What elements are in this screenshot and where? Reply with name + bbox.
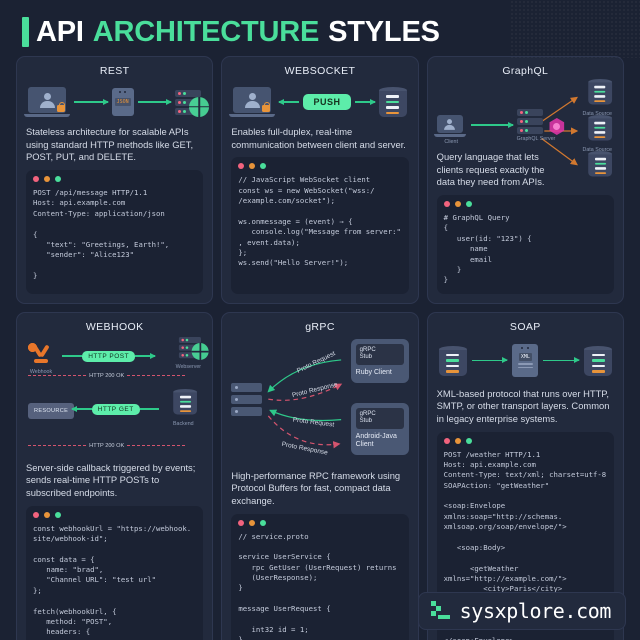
title-part-styles: STYLES xyxy=(328,16,440,49)
graphql-server: GraphQL Server xyxy=(517,109,556,142)
infographic-page: API ARCHITECTURE STYLES REST xyxy=(0,0,640,640)
grpc-client-2-label: Android-Java Client xyxy=(356,433,404,450)
database-icon xyxy=(379,87,407,117)
json-document-icon: JSON xyxy=(112,88,134,116)
card-soap-description: XML-based protocol that runs over HTTP, … xyxy=(437,388,614,426)
graphql-logo-icon xyxy=(548,118,565,135)
footer-brand[interactable]: sysxplore.com xyxy=(418,592,626,630)
arrow-client-to-doc xyxy=(74,101,108,103)
maximize-dot-icon xyxy=(55,176,61,182)
close-dot-icon xyxy=(444,438,450,444)
arrow-db-to-xml xyxy=(472,360,508,362)
webhook-icon xyxy=(28,343,54,367)
arrow-doc-to-server xyxy=(138,101,172,103)
title-part-api: API xyxy=(36,16,84,49)
minimize-dot-icon xyxy=(455,438,461,444)
json-doc-label: JSON xyxy=(115,98,131,106)
xml-document-icon: XML xyxy=(512,344,538,377)
card-grpc-code: // service.proto service UserService { r… xyxy=(238,532,401,640)
code-window-dots xyxy=(33,176,196,182)
globe-icon xyxy=(192,343,209,360)
terminal-prompt-icon xyxy=(429,601,451,621)
minimize-dot-icon xyxy=(249,163,255,169)
minimize-dot-icon xyxy=(44,176,50,182)
card-graphql-title: GraphQL xyxy=(437,65,614,77)
minimize-dot-icon xyxy=(44,512,50,518)
arrow-webhook-to-webserver-a xyxy=(62,355,82,357)
card-websocket: WEBSOCKET PUSH xyxy=(221,56,418,304)
card-websocket-code-block: // JavaScript WebSocket client const ws … xyxy=(231,157,408,293)
title-accent-bar xyxy=(22,17,29,47)
code-window-dots xyxy=(444,438,607,444)
minimize-dot-icon xyxy=(455,201,461,207)
graphql-client-label: Client xyxy=(437,139,466,145)
card-graphql-code-block: # GraphQL Query { user(id: "123") { name… xyxy=(437,195,614,294)
card-soap-title: SOAP xyxy=(437,321,614,333)
page-title: API ARCHITECTURE STYLES xyxy=(36,16,440,49)
card-grpc-description: High-performance RPC framework using Pro… xyxy=(231,470,408,508)
http-post-badge: HTTP POST xyxy=(82,351,135,362)
card-grpc: gRPC Proto Request xyxy=(221,312,418,640)
grpc-stub-label-2: gRPC Stub xyxy=(356,408,404,429)
card-soap-diagram: XML xyxy=(437,337,614,383)
card-soap: SOAP XML XML-based protocol that xyxy=(427,312,624,640)
grpc-server-rack xyxy=(231,383,262,416)
arrow-backend-to-resource-b xyxy=(140,408,160,410)
push-badge: PUSH xyxy=(303,94,350,110)
card-websocket-description: Enables full-duplex, real-time communica… xyxy=(231,126,408,151)
minimize-dot-icon xyxy=(249,520,255,526)
card-webhook-title: WEBHOOK xyxy=(26,321,203,333)
client-laptop-icon xyxy=(28,87,70,117)
lock-icon xyxy=(57,105,65,112)
close-dot-icon xyxy=(33,176,39,182)
maximize-dot-icon xyxy=(55,512,61,518)
arrow-xml-to-db xyxy=(543,360,579,362)
card-graphql: GraphQL xyxy=(427,56,624,304)
card-websocket-code: // JavaScript WebSocket client const ws … xyxy=(238,175,401,268)
close-dot-icon xyxy=(33,512,39,518)
http-200-label-2: HTTP 200 OK xyxy=(89,443,124,449)
card-webhook: WEBHOOK Webhook HTTP POST xyxy=(16,312,213,640)
http-200-row-2: HTTP 200 OK xyxy=(28,443,185,449)
card-webhook-diagram: Webhook HTTP POST Webserver xyxy=(26,337,203,457)
arrow-client-to-server xyxy=(355,101,375,103)
close-dot-icon xyxy=(238,520,244,526)
card-rest-title: REST xyxy=(26,65,203,77)
cards-grid: REST JSON xyxy=(8,56,632,640)
card-webhook-code: const webhookUrl = "https://webhook. sit… xyxy=(33,524,196,640)
code-window-dots xyxy=(238,520,401,526)
code-window-dots xyxy=(33,512,196,518)
maximize-dot-icon xyxy=(260,520,266,526)
card-rest-diagram: JSON xyxy=(26,81,203,121)
backend-label: Backend xyxy=(169,421,197,427)
card-graphql-code: # GraphQL Query { user(id: "123") { name… xyxy=(444,213,607,286)
close-dot-icon xyxy=(444,201,450,207)
card-rest-code: POST /api/message HTTP/1.1 Host: api.exa… xyxy=(33,188,196,281)
database-icon-left xyxy=(439,346,467,376)
grpc-stub-label-1: gRPC Stub xyxy=(356,344,404,365)
page-header: API ARCHITECTURE STYLES xyxy=(8,8,632,56)
arrow-webhook-to-webserver-b xyxy=(135,355,155,357)
grpc-edge-label-request-2: Proto Request xyxy=(293,416,335,428)
graphql-data-source-1: Data Source xyxy=(583,79,612,117)
graphql-data-source-3 xyxy=(584,151,612,181)
grpc-android-client: gRPC Stub Android-Java Client xyxy=(351,403,409,456)
backend-group: Backend xyxy=(169,389,197,427)
resource-node: RESOURCE xyxy=(28,399,74,417)
maximize-dot-icon xyxy=(466,201,472,207)
card-websocket-title: WEBSOCKET xyxy=(231,65,408,77)
code-window-dots xyxy=(238,163,401,169)
webserver-group: Webserver xyxy=(175,337,201,370)
database-icon-right xyxy=(584,346,612,376)
maximize-dot-icon xyxy=(260,163,266,169)
grpc-edge-label-request-1: Proto Request xyxy=(296,350,337,375)
title-part-architecture: ARCHITECTURE xyxy=(93,16,319,49)
grpc-edge-label-response-1: Proto Response xyxy=(292,381,339,399)
card-webhook-description: Server-side callback triggered by events… xyxy=(26,462,203,500)
resource-label: RESOURCE xyxy=(28,403,74,419)
code-window-dots xyxy=(444,201,607,207)
graphql-server-label: GraphQL Server xyxy=(517,136,556,142)
arrow-client-to-graphql-server xyxy=(471,124,513,126)
http-get-badge: HTTP GET xyxy=(92,404,140,415)
card-webhook-code-block: const webhookUrl = "https://webhook. sit… xyxy=(26,506,203,640)
maximize-dot-icon xyxy=(466,438,472,444)
http-200-row-1: HTTP 200 OK xyxy=(28,373,185,379)
globe-icon xyxy=(189,97,209,117)
arrow-server-to-client xyxy=(279,101,299,103)
card-websocket-diagram: PUSH xyxy=(231,81,408,121)
grpc-client-1-label: Ruby Client xyxy=(356,369,404,377)
card-rest: REST JSON xyxy=(16,56,213,304)
arrow-backend-to-resource-a xyxy=(72,408,92,410)
card-grpc-title: gRPC xyxy=(231,321,408,333)
grpc-edge-label-response-2: Proto Response xyxy=(281,440,329,456)
card-rest-description: Stateless architecture for scalable APIs… xyxy=(26,126,203,164)
lock-icon xyxy=(262,105,270,112)
close-dot-icon xyxy=(238,163,244,169)
http-200-label-1: HTTP 200 OK xyxy=(89,373,124,379)
server-icon xyxy=(175,90,201,115)
webserver-label: Webserver xyxy=(175,364,201,370)
grpc-ruby-client: gRPC Stub Ruby Client xyxy=(351,339,409,383)
card-rest-code-block: POST /api/message HTTP/1.1 Host: api.exa… xyxy=(26,170,203,294)
card-grpc-code-block: // service.proto service UserService { r… xyxy=(231,514,408,640)
client-laptop-icon xyxy=(233,87,275,117)
graphql-client: Client xyxy=(437,115,466,145)
graphql-data-source-2: Data Source xyxy=(583,115,612,153)
webhook-logo-group: Webhook xyxy=(28,343,54,375)
brand-name: sysxplore.com xyxy=(460,599,611,623)
xml-doc-label: XML xyxy=(519,353,532,361)
card-graphql-diagram: Client GraphQL Server xyxy=(437,81,614,181)
card-grpc-diagram: Proto Request Proto Response Proto Reque… xyxy=(231,337,408,465)
